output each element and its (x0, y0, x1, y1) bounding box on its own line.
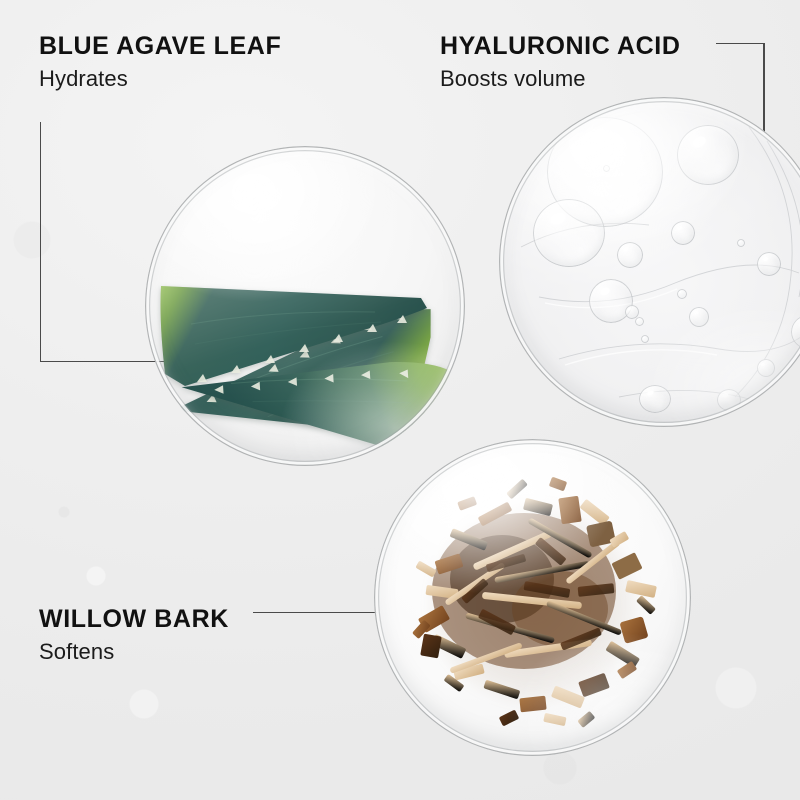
gel-bubble (717, 389, 741, 411)
gel-bubble (689, 307, 709, 327)
ingredient-title-hyaluronic-acid: HYALURONIC ACID (440, 33, 681, 59)
callout-hyaluronic-acid: HYALURONIC ACID Boosts volume (440, 33, 681, 92)
gel-bubble (677, 125, 739, 185)
ingredient-benefit-willow-bark: Softens (39, 639, 229, 664)
agave-leaf-group (145, 146, 465, 466)
ingredient-benefit-blue-agave-leaf: Hydrates (39, 66, 281, 91)
leader-line-willow-bark (253, 612, 377, 615)
gel-bubble (671, 221, 695, 245)
callout-willow-bark: WILLOW BARK Softens (39, 606, 229, 665)
ingredient-title-blue-agave-leaf: BLUE AGAVE LEAF (39, 33, 281, 59)
gel-bubble (635, 317, 644, 326)
ingredient-title-willow-bark: WILLOW BARK (39, 606, 229, 632)
gel-bubble (603, 165, 610, 172)
gel-bubble (533, 199, 605, 267)
petri-dish-willow-bark (374, 439, 691, 756)
bark-chips (374, 439, 691, 756)
callout-blue-agave-leaf: BLUE AGAVE LEAF Hydrates (39, 33, 281, 92)
ingredient-benefit-hyaluronic-acid: Boosts volume (440, 66, 681, 91)
gel-bubble (617, 242, 643, 268)
gel-bubble (737, 239, 745, 247)
gel-bubble (677, 289, 687, 299)
ingredient-callout-graphic: BLUE AGAVE LEAF Hydrates HYALURONIC ACID… (0, 0, 800, 800)
petri-dish-hyaluronic-acid (499, 97, 800, 427)
gel-bubble (641, 335, 649, 343)
petri-dish-blue-agave-leaf (145, 146, 465, 466)
gel-bubble (757, 359, 775, 377)
gel-bubble (757, 252, 781, 276)
willow-bark-pile (374, 439, 691, 756)
gel-bubble (639, 385, 671, 413)
agave-leaf-slice-bottom (145, 146, 465, 466)
